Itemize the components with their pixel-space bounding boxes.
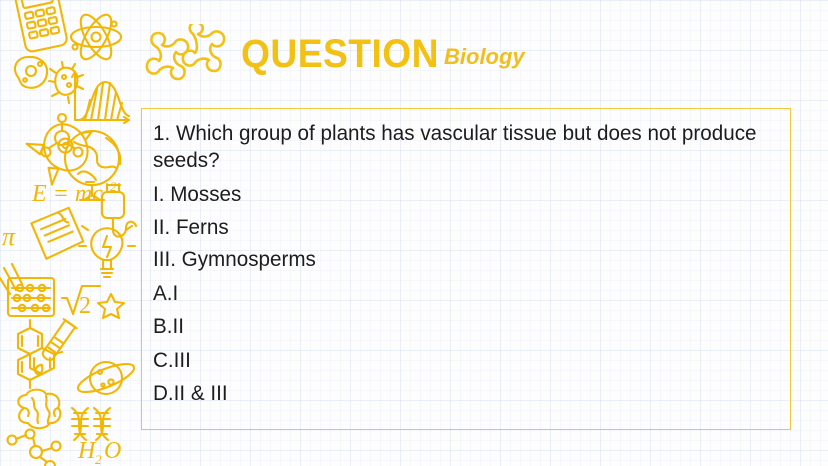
- answer-choice-c[interactable]: C.III: [153, 348, 751, 373]
- svg-text:H: H: [77, 438, 97, 464]
- lightbulb-icon: [79, 226, 135, 277]
- slide-canvas: E = mc 2 π: [0, 0, 828, 466]
- dna-icon: [72, 408, 110, 440]
- svg-text:2: 2: [79, 293, 91, 319]
- benzene-rings-icon: [18, 320, 62, 388]
- notebook-icon: [30, 206, 85, 260]
- svg-text:E = mc: E = mc: [31, 181, 103, 207]
- molecule-chain-icon: [8, 430, 61, 466]
- sqrt-two-icon: 2: [62, 286, 100, 319]
- svg-text:O: O: [104, 438, 121, 464]
- answer-choice-a[interactable]: A.I: [153, 281, 751, 306]
- amoeba-icon: [15, 57, 47, 88]
- brain-icon: [18, 390, 60, 429]
- calculator-icon: [14, 0, 68, 53]
- star-icon: [98, 294, 124, 318]
- roman-item-3: III. Gymnosperms: [153, 247, 751, 272]
- subject-label: Biology: [444, 44, 525, 70]
- science-doodle-sidebar: E = mc 2 π: [0, 0, 140, 466]
- bacteria-icon: [49, 62, 83, 103]
- abacus-icon: [8, 278, 54, 316]
- h2o-formula-icon: H 2 O: [77, 438, 121, 466]
- page-title: QUESTION: [241, 32, 439, 76]
- roman-item-1: I. Mosses: [153, 182, 751, 207]
- roman-item-2: II. Ferns: [153, 215, 751, 240]
- answer-choice-b[interactable]: B.II: [153, 314, 751, 339]
- pi-symbol-icon: π: [2, 222, 16, 251]
- question-panel: 1. Which group of plants has vascular ti…: [141, 108, 791, 430]
- answer-choice-d[interactable]: D.II & III: [153, 381, 751, 406]
- bell-curve-graph-icon: [72, 72, 129, 123]
- svg-text:2: 2: [95, 452, 102, 466]
- question-stem: 1. Which group of plants has vascular ti…: [153, 120, 767, 174]
- saturn-icon: [75, 358, 137, 397]
- slide-header: QUESTION Biology: [141, 18, 801, 98]
- atom-icon: [71, 10, 121, 63]
- svg-text:π: π: [2, 222, 16, 251]
- puzzle-piece-icon: [145, 24, 229, 90]
